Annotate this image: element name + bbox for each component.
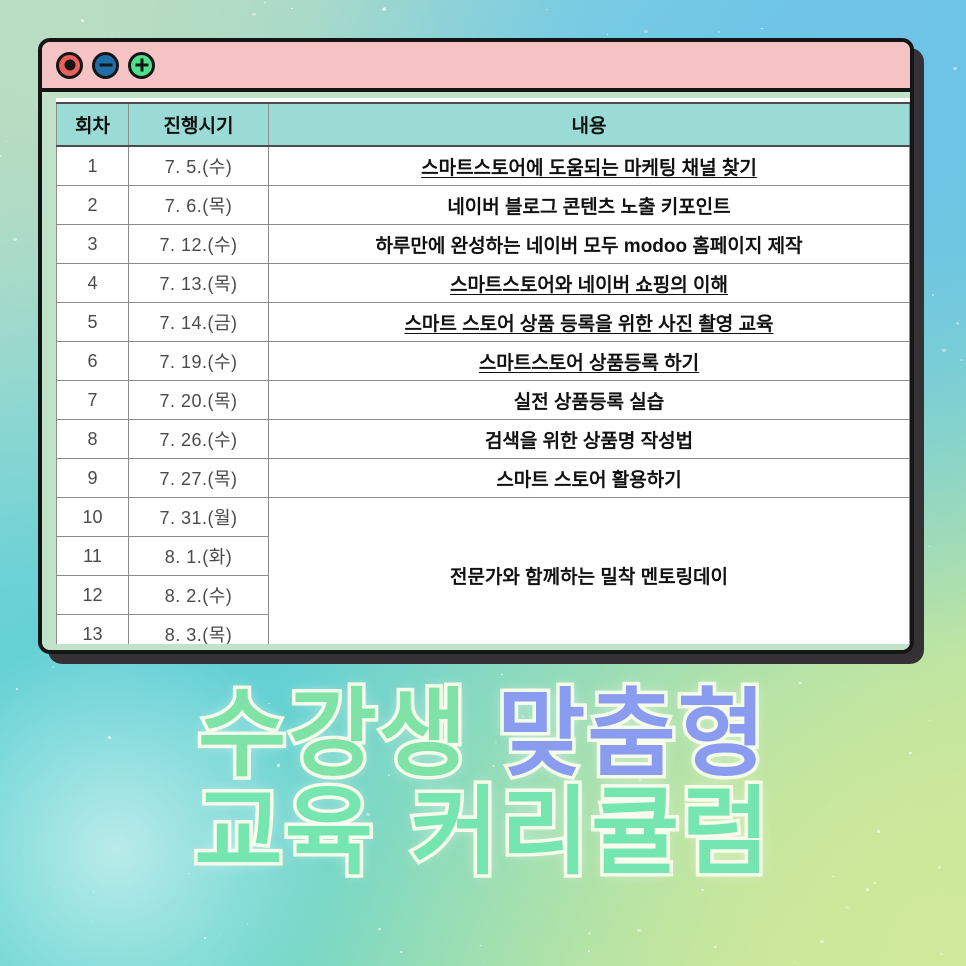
cell-session-no: 4	[57, 264, 129, 303]
cell-session-no: 8	[57, 420, 129, 459]
cell-session-no: 10	[57, 498, 129, 537]
cell-date: 7. 19.(수)	[129, 342, 269, 381]
cell-content: 스마트스토어와 네이버 쇼핑의 이해	[269, 264, 910, 303]
plus-circle-icon[interactable]	[128, 52, 155, 79]
cell-content-text: 실전 상품등록 실습	[514, 392, 664, 413]
cell-content: 스마트 스토어 활용하기	[269, 459, 910, 498]
cell-content: 네이버 블로그 콘텐츠 노출 키포인트	[269, 186, 910, 225]
close-circle-icon[interactable]	[56, 52, 83, 79]
cell-content: 스마트 스토어 상품 등록을 위한 사진 촬영 교육	[269, 303, 910, 342]
headline-word-curriculum: 교육 커리큘럼	[194, 776, 771, 888]
table-header-row: 회차 진행시기 내용	[57, 103, 910, 146]
table-row: 107. 31.(월)전문가와 함께하는 밀착 멘토링데이	[57, 498, 910, 537]
column-header-session: 회차	[57, 103, 129, 146]
poster-headline: 수강생맞춤형 교육 커리큘럼	[0, 686, 966, 882]
cell-date: 7. 12.(수)	[129, 225, 269, 264]
cell-content-text: 스마트스토어와 네이버 쇼핑의 이해	[450, 275, 728, 296]
cell-date: 7. 6.(목)	[129, 186, 269, 225]
headline-word-customized: 맞춤형	[497, 678, 768, 790]
cell-content-text: 스마트스토어에 도움되는 마케팅 채널 찾기	[421, 158, 757, 179]
cell-session-no: 3	[57, 225, 129, 264]
cell-content-text: 하루만에 완성하는 네이버 모두 modoo 홈페이지 제작	[375, 236, 802, 257]
cell-date: 7. 20.(목)	[129, 381, 269, 420]
cell-content: 실전 상품등록 실습	[269, 381, 910, 420]
cell-date: 7. 14.(금)	[129, 303, 269, 342]
curriculum-table: 회차 진행시기 내용 17. 5.(수)스마트스토어에 도움되는 마케팅 채널 …	[56, 102, 910, 644]
cell-date: 7. 26.(수)	[129, 420, 269, 459]
table-row: 97. 27.(목)스마트 스토어 활용하기	[57, 459, 910, 498]
cell-date: 7. 13.(목)	[129, 264, 269, 303]
table-row: 47. 13.(목)스마트스토어와 네이버 쇼핑의 이해	[57, 264, 910, 303]
cell-session-no: 12	[57, 576, 129, 615]
table-row: 27. 6.(목)네이버 블로그 콘텐츠 노출 키포인트	[57, 186, 910, 225]
cell-date: 7. 31.(월)	[129, 498, 269, 537]
window-content-area: 회차 진행시기 내용 17. 5.(수)스마트스토어에 도움되는 마케팅 채널 …	[42, 92, 910, 650]
cell-session-no: 1	[57, 146, 129, 186]
cell-date: 8. 3.(목)	[129, 615, 269, 645]
headline-line-1: 수강생맞춤형	[0, 686, 966, 784]
cell-content-text: 스마트스토어 상품등록 하기	[479, 353, 699, 374]
cell-date: 8. 1.(화)	[129, 537, 269, 576]
cell-session-no: 5	[57, 303, 129, 342]
cell-content-text: 네이버 블로그 콘텐츠 노출 키포인트	[447, 197, 730, 218]
column-header-content: 내용	[269, 103, 910, 146]
headline-word-students: 수강생	[198, 678, 469, 790]
cell-date: 8. 2.(수)	[129, 576, 269, 615]
cell-content-text: 스마트 스토어 상품 등록을 위한 사진 촬영 교육	[404, 314, 773, 335]
cell-content: 하루만에 완성하는 네이버 모두 modoo 홈페이지 제작	[269, 225, 910, 264]
table-header: 회차 진행시기 내용	[57, 103, 910, 146]
table-row: 57. 14.(금)스마트 스토어 상품 등록을 위한 사진 촬영 교육	[57, 303, 910, 342]
cell-session-no: 13	[57, 615, 129, 645]
cell-session-no: 11	[57, 537, 129, 576]
cell-session-no: 6	[57, 342, 129, 381]
table-row: 67. 19.(수)스마트스토어 상품등록 하기	[57, 342, 910, 381]
cell-content: 스마트스토어 상품등록 하기	[269, 342, 910, 381]
cell-session-no: 7	[57, 381, 129, 420]
cell-session-no: 2	[57, 186, 129, 225]
table-body: 17. 5.(수)스마트스토어에 도움되는 마케팅 채널 찾기27. 6.(목)…	[57, 146, 910, 644]
app-window: 회차 진행시기 내용 17. 5.(수)스마트스토어에 도움되는 마케팅 채널 …	[38, 38, 914, 654]
cell-content-text: 스마트 스토어 활용하기	[496, 470, 681, 491]
minus-circle-icon[interactable]	[92, 52, 119, 79]
cell-content-merged: 전문가와 함께하는 밀착 멘토링데이	[269, 498, 910, 645]
table-row: 37. 12.(수)하루만에 완성하는 네이버 모두 modoo 홈페이지 제작	[57, 225, 910, 264]
window-titlebar	[42, 42, 910, 92]
cell-date: 7. 5.(수)	[129, 146, 269, 186]
cell-content: 스마트스토어에 도움되는 마케팅 채널 찾기	[269, 146, 910, 186]
table-row: 17. 5.(수)스마트스토어에 도움되는 마케팅 채널 찾기	[57, 146, 910, 186]
headline-line-2: 교육 커리큘럼	[0, 784, 966, 882]
table-row: 87. 26.(수)검색을 위한 상품명 작성법	[57, 420, 910, 459]
spreadsheet-sheet: 회차 진행시기 내용 17. 5.(수)스마트스토어에 도움되는 마케팅 채널 …	[56, 98, 910, 644]
column-header-date: 진행시기	[129, 103, 269, 146]
cell-date: 7. 27.(목)	[129, 459, 269, 498]
cell-session-no: 9	[57, 459, 129, 498]
table-row: 77. 20.(목)실전 상품등록 실습	[57, 381, 910, 420]
cell-content: 검색을 위한 상품명 작성법	[269, 420, 910, 459]
poster-canvas: 회차 진행시기 내용 17. 5.(수)스마트스토어에 도움되는 마케팅 채널 …	[0, 0, 966, 966]
cell-content-text: 검색을 위한 상품명 작성법	[485, 431, 693, 452]
